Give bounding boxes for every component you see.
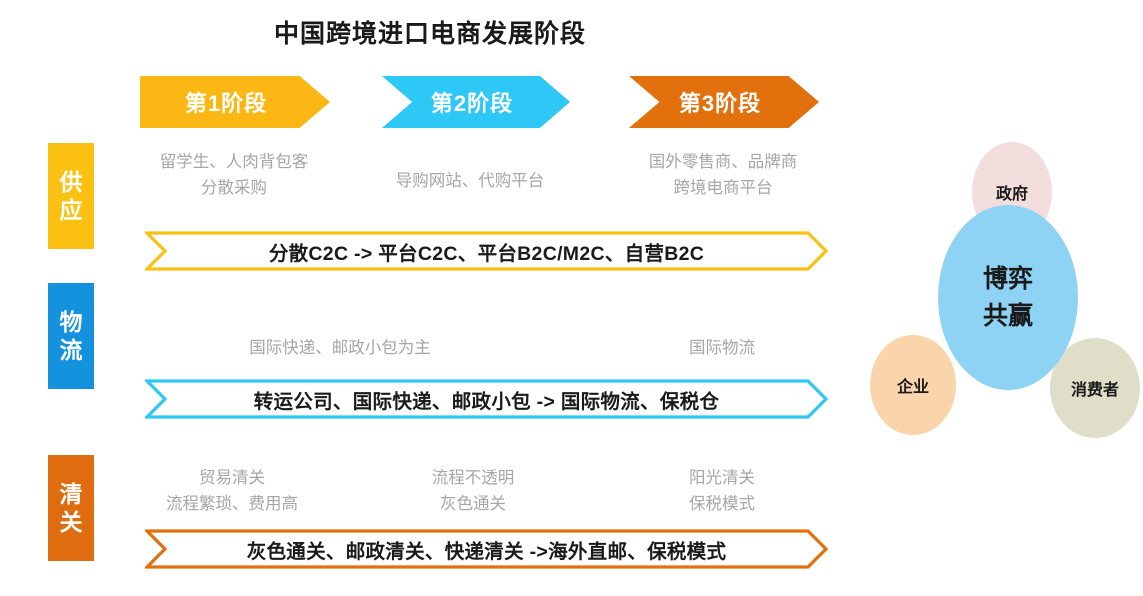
cell-customs-stage2: 流程不透明 灰色通关 <box>382 466 564 517</box>
cell-logistics-stage3: 国际物流 <box>642 336 802 362</box>
row-label-customs: 清 关 <box>48 455 94 561</box>
cell-supply-stage1-line2: 分散采购 <box>126 176 342 202</box>
cell-supply-stage3-line1: 国外零售商、品牌商 <box>610 150 836 176</box>
venn-consumer-label: 消费者 <box>1071 376 1119 400</box>
stakeholder-venn: 政府 企业 消费者 博弈 共赢 <box>862 140 1143 460</box>
cell-customs-stage1-line2: 流程繁琐、费用高 <box>124 492 340 518</box>
stage-banner-2-label: 第2阶段 <box>431 86 513 118</box>
stage-banner-2: 第2阶段 <box>382 76 570 128</box>
cell-customs-stage3: 阳光清关 保税模式 <box>632 466 812 517</box>
summary-arrow-logistics: 转运公司、国际快递、邮政小包 -> 国际物流、保税仓 <box>145 379 828 419</box>
cell-supply-stage3: 国外零售商、品牌商 跨境电商平台 <box>610 150 836 201</box>
summary-arrow-logistics-label: 转运公司、国际快递、邮政小包 -> 国际物流、保税仓 <box>145 379 828 419</box>
row-label-logistics-char-2: 流 <box>60 336 83 364</box>
cell-customs-stage3-line1: 阳光清关 <box>632 466 812 492</box>
venn-center-line-1: 博弈 <box>983 261 1033 297</box>
cell-customs-stage2-line2: 灰色通关 <box>382 492 564 518</box>
venn-government-label: 政府 <box>996 180 1028 204</box>
venn-center-line-2: 共赢 <box>983 298 1033 334</box>
row-label-logistics: 物 流 <box>48 283 94 389</box>
summary-arrow-customs-label: 灰色通关、邮政清关、快递清关 ->海外直邮、保税模式 <box>145 529 828 569</box>
cell-supply-stage2: 导购网站、代购平台 <box>362 169 578 195</box>
stage-banner-1: 第1阶段 <box>140 76 330 128</box>
row-label-supply-char-2: 应 <box>60 196 83 224</box>
venn-center-circle: 博弈 共赢 <box>938 205 1078 390</box>
cell-customs-stage3-line2: 保税模式 <box>632 492 812 518</box>
cell-customs-stage1-line1: 贸易清关 <box>124 466 340 492</box>
row-label-logistics-char-1: 物 <box>60 308 83 336</box>
cell-logistics-stage12-line1: 国际快递、邮政小包为主 <box>232 336 448 362</box>
summary-arrow-customs: 灰色通关、邮政清关、快递清关 ->海外直邮、保税模式 <box>145 529 828 569</box>
summary-arrow-supply-label: 分散C2C -> 平台C2C、平台B2C/M2C、自营B2C <box>145 231 828 271</box>
venn-enterprise-circle: 企业 <box>870 335 956 435</box>
summary-arrow-supply: 分散C2C -> 平台C2C、平台B2C/M2C、自营B2C <box>145 231 828 271</box>
stage-banner-3: 第3阶段 <box>629 76 819 128</box>
page-title: 中国跨境进口电商发展阶段 <box>0 14 860 50</box>
venn-enterprise-label: 企业 <box>897 373 929 397</box>
row-label-supply-char-1: 供 <box>60 168 83 196</box>
cell-customs-stage2-line1: 流程不透明 <box>382 466 564 492</box>
cell-supply-stage1-line1: 留学生、人肉背包客 <box>126 150 342 176</box>
cell-logistics-stage12: 国际快递、邮政小包为主 <box>232 336 448 362</box>
cell-supply-stage3-line2: 跨境电商平台 <box>610 176 836 202</box>
cell-customs-stage1: 贸易清关 流程繁琐、费用高 <box>124 466 340 517</box>
cell-supply-stage2-line1: 导购网站、代购平台 <box>362 169 578 195</box>
cell-supply-stage1: 留学生、人肉背包客 分散采购 <box>126 150 342 201</box>
stage-banner-1-label: 第1阶段 <box>185 86 267 118</box>
row-label-customs-char-1: 清 <box>60 480 83 508</box>
diagram-canvas: 中国跨境进口电商发展阶段 第1阶段 第2阶段 第3阶段 供 应 留学生、人肉背包… <box>0 0 1143 596</box>
cell-logistics-stage3-line1: 国际物流 <box>642 336 802 362</box>
row-label-customs-char-2: 关 <box>60 508 83 536</box>
row-label-supply: 供 应 <box>48 143 94 249</box>
stage-banner-3-label: 第3阶段 <box>679 86 761 118</box>
